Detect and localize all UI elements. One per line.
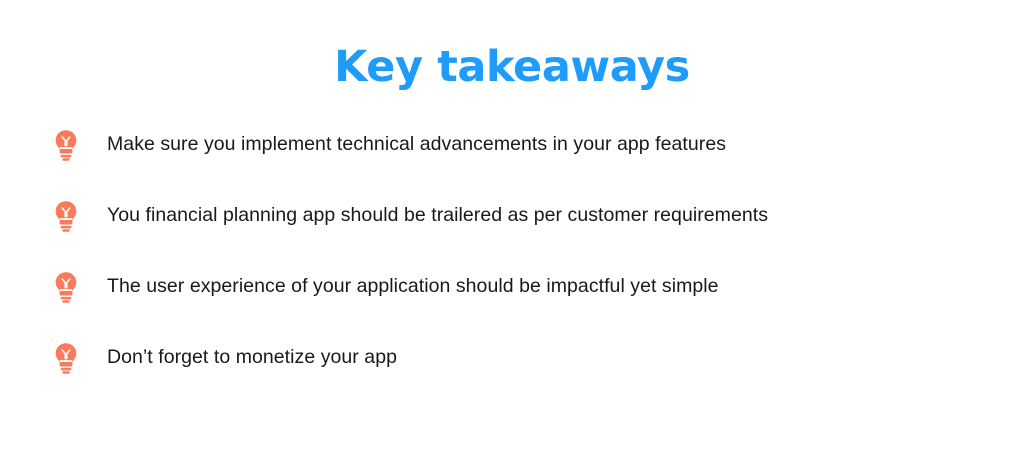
list-item: The user experience of your application … [52, 268, 992, 306]
lightbulb-icon [54, 200, 78, 232]
lightbulb-icon [54, 342, 78, 374]
takeaways-list: Make sure you implement technical advanc… [52, 126, 992, 377]
list-item-label: The user experience of your application … [107, 274, 719, 299]
list-item-label: You financial planning app should be tra… [107, 203, 768, 228]
lightbulb-icon [54, 271, 78, 303]
page-title: Key takeaways [0, 44, 1024, 91]
list-item: Don’t forget to monetize your app [52, 339, 992, 377]
list-item-label: Don’t forget to monetize your app [107, 345, 397, 370]
lightbulb-icon [54, 129, 78, 161]
key-takeaways-slide: Key takeaways Make sure you implement te… [0, 0, 1024, 453]
list-item-label: Make sure you implement technical advanc… [107, 132, 726, 157]
list-item: You financial planning app should be tra… [52, 197, 992, 235]
list-item: Make sure you implement technical advanc… [52, 126, 992, 164]
